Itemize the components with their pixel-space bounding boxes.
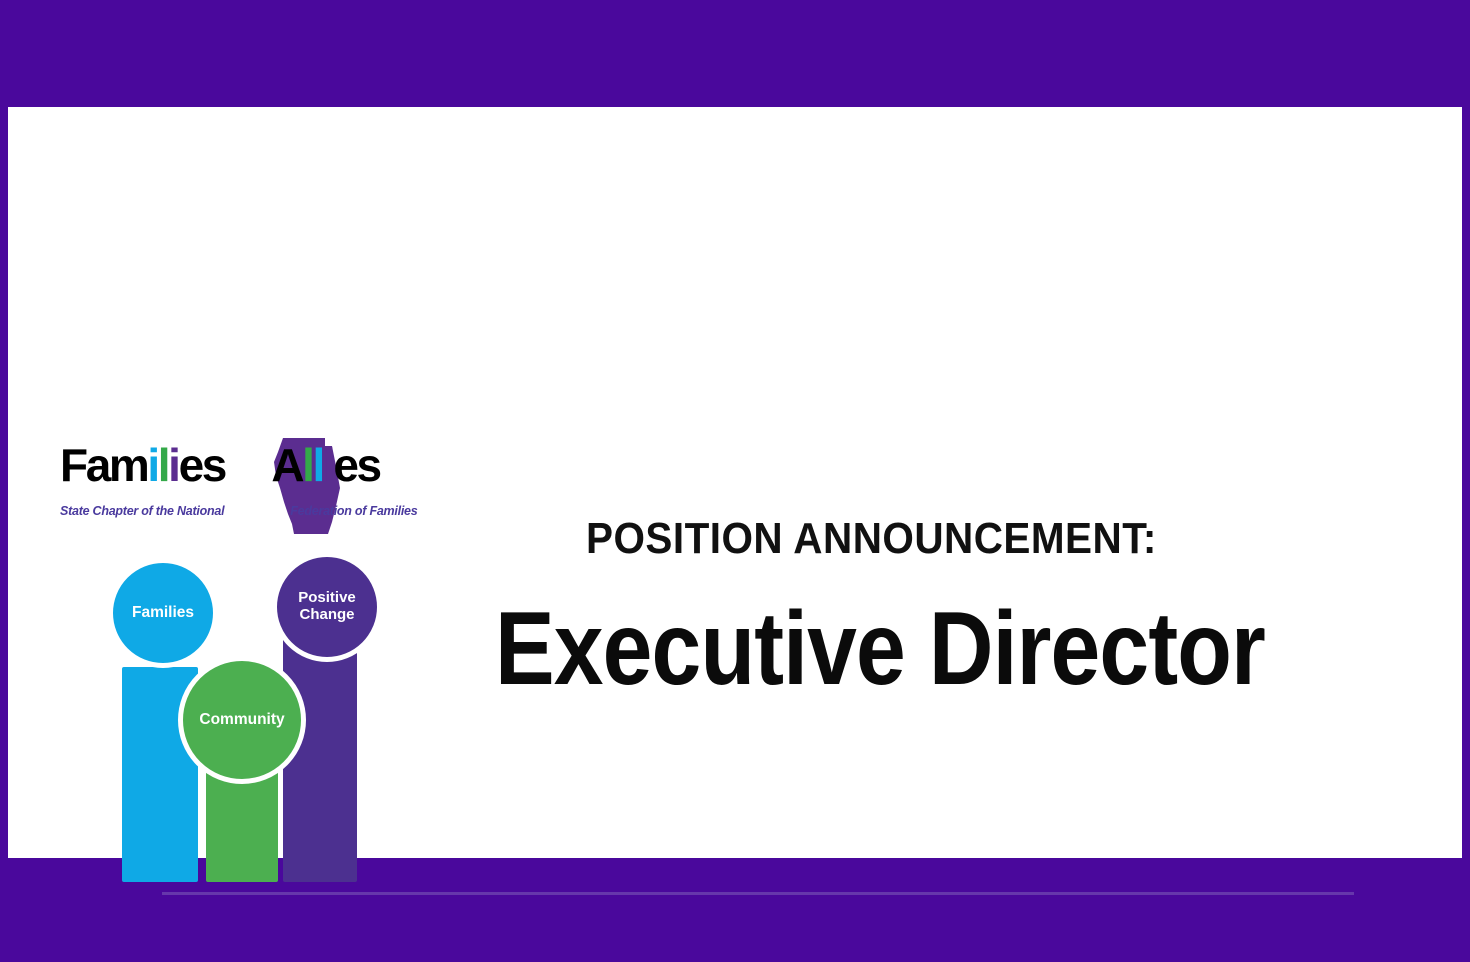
footer-divider <box>162 892 1354 895</box>
pillar-bar-positive-change <box>283 636 357 882</box>
wordmark-fam: Fam <box>60 439 147 491</box>
pillar-head-community: Community <box>178 656 306 784</box>
organization-logo: FamiliesasAllies State Chapter of the Na… <box>52 440 424 885</box>
logo-tagline-left: State Chapter of the National <box>60 504 224 518</box>
content-card: FamiliesasAllies State Chapter of the Na… <box>8 107 1462 858</box>
announcement-title: Executive Director <box>495 597 1265 701</box>
wordmark-i-purple: i <box>168 439 178 491</box>
logo-tagline: State Chapter of the NationalFederation … <box>60 504 424 518</box>
pillar-head-families: Families <box>108 558 218 668</box>
wordmark-es: es <box>179 439 225 491</box>
wordmark-i2-purple: i <box>323 439 333 491</box>
pillar-label-positive-line2: Change <box>299 606 354 623</box>
wordmark-i-blue: i <box>147 439 157 491</box>
wordmark-a: A <box>271 439 302 491</box>
announcement-kicker: POSITION ANNOUNCEMENT: <box>586 517 1157 561</box>
wordmark-as: as <box>225 439 271 491</box>
poster-canvas: FamiliesasAllies State Chapter of the Na… <box>0 0 1470 962</box>
logo-wordmark-text: FamiliesasAllies <box>60 442 380 488</box>
pillar-head-positive-change: PositiveChange <box>272 552 382 662</box>
pillar-label-positive-line1: Positive <box>298 589 356 606</box>
wordmark-l2-blue: l <box>313 439 323 491</box>
pillar-label-community: Community <box>199 711 284 728</box>
pillar-label-positive-change: PositiveChange <box>298 590 356 624</box>
wordmark-l2-green: l <box>302 439 312 491</box>
wordmark-l-green: l <box>158 439 168 491</box>
logo-tagline-right: Federation of Families <box>290 504 417 518</box>
wordmark-es2: es <box>333 439 379 491</box>
logo-pillars-graphic: Families PositiveChange Community <box>108 552 418 882</box>
logo-wordmark: FamiliesasAllies State Chapter of the Na… <box>52 440 424 532</box>
pillar-label-families: Families <box>132 604 194 621</box>
